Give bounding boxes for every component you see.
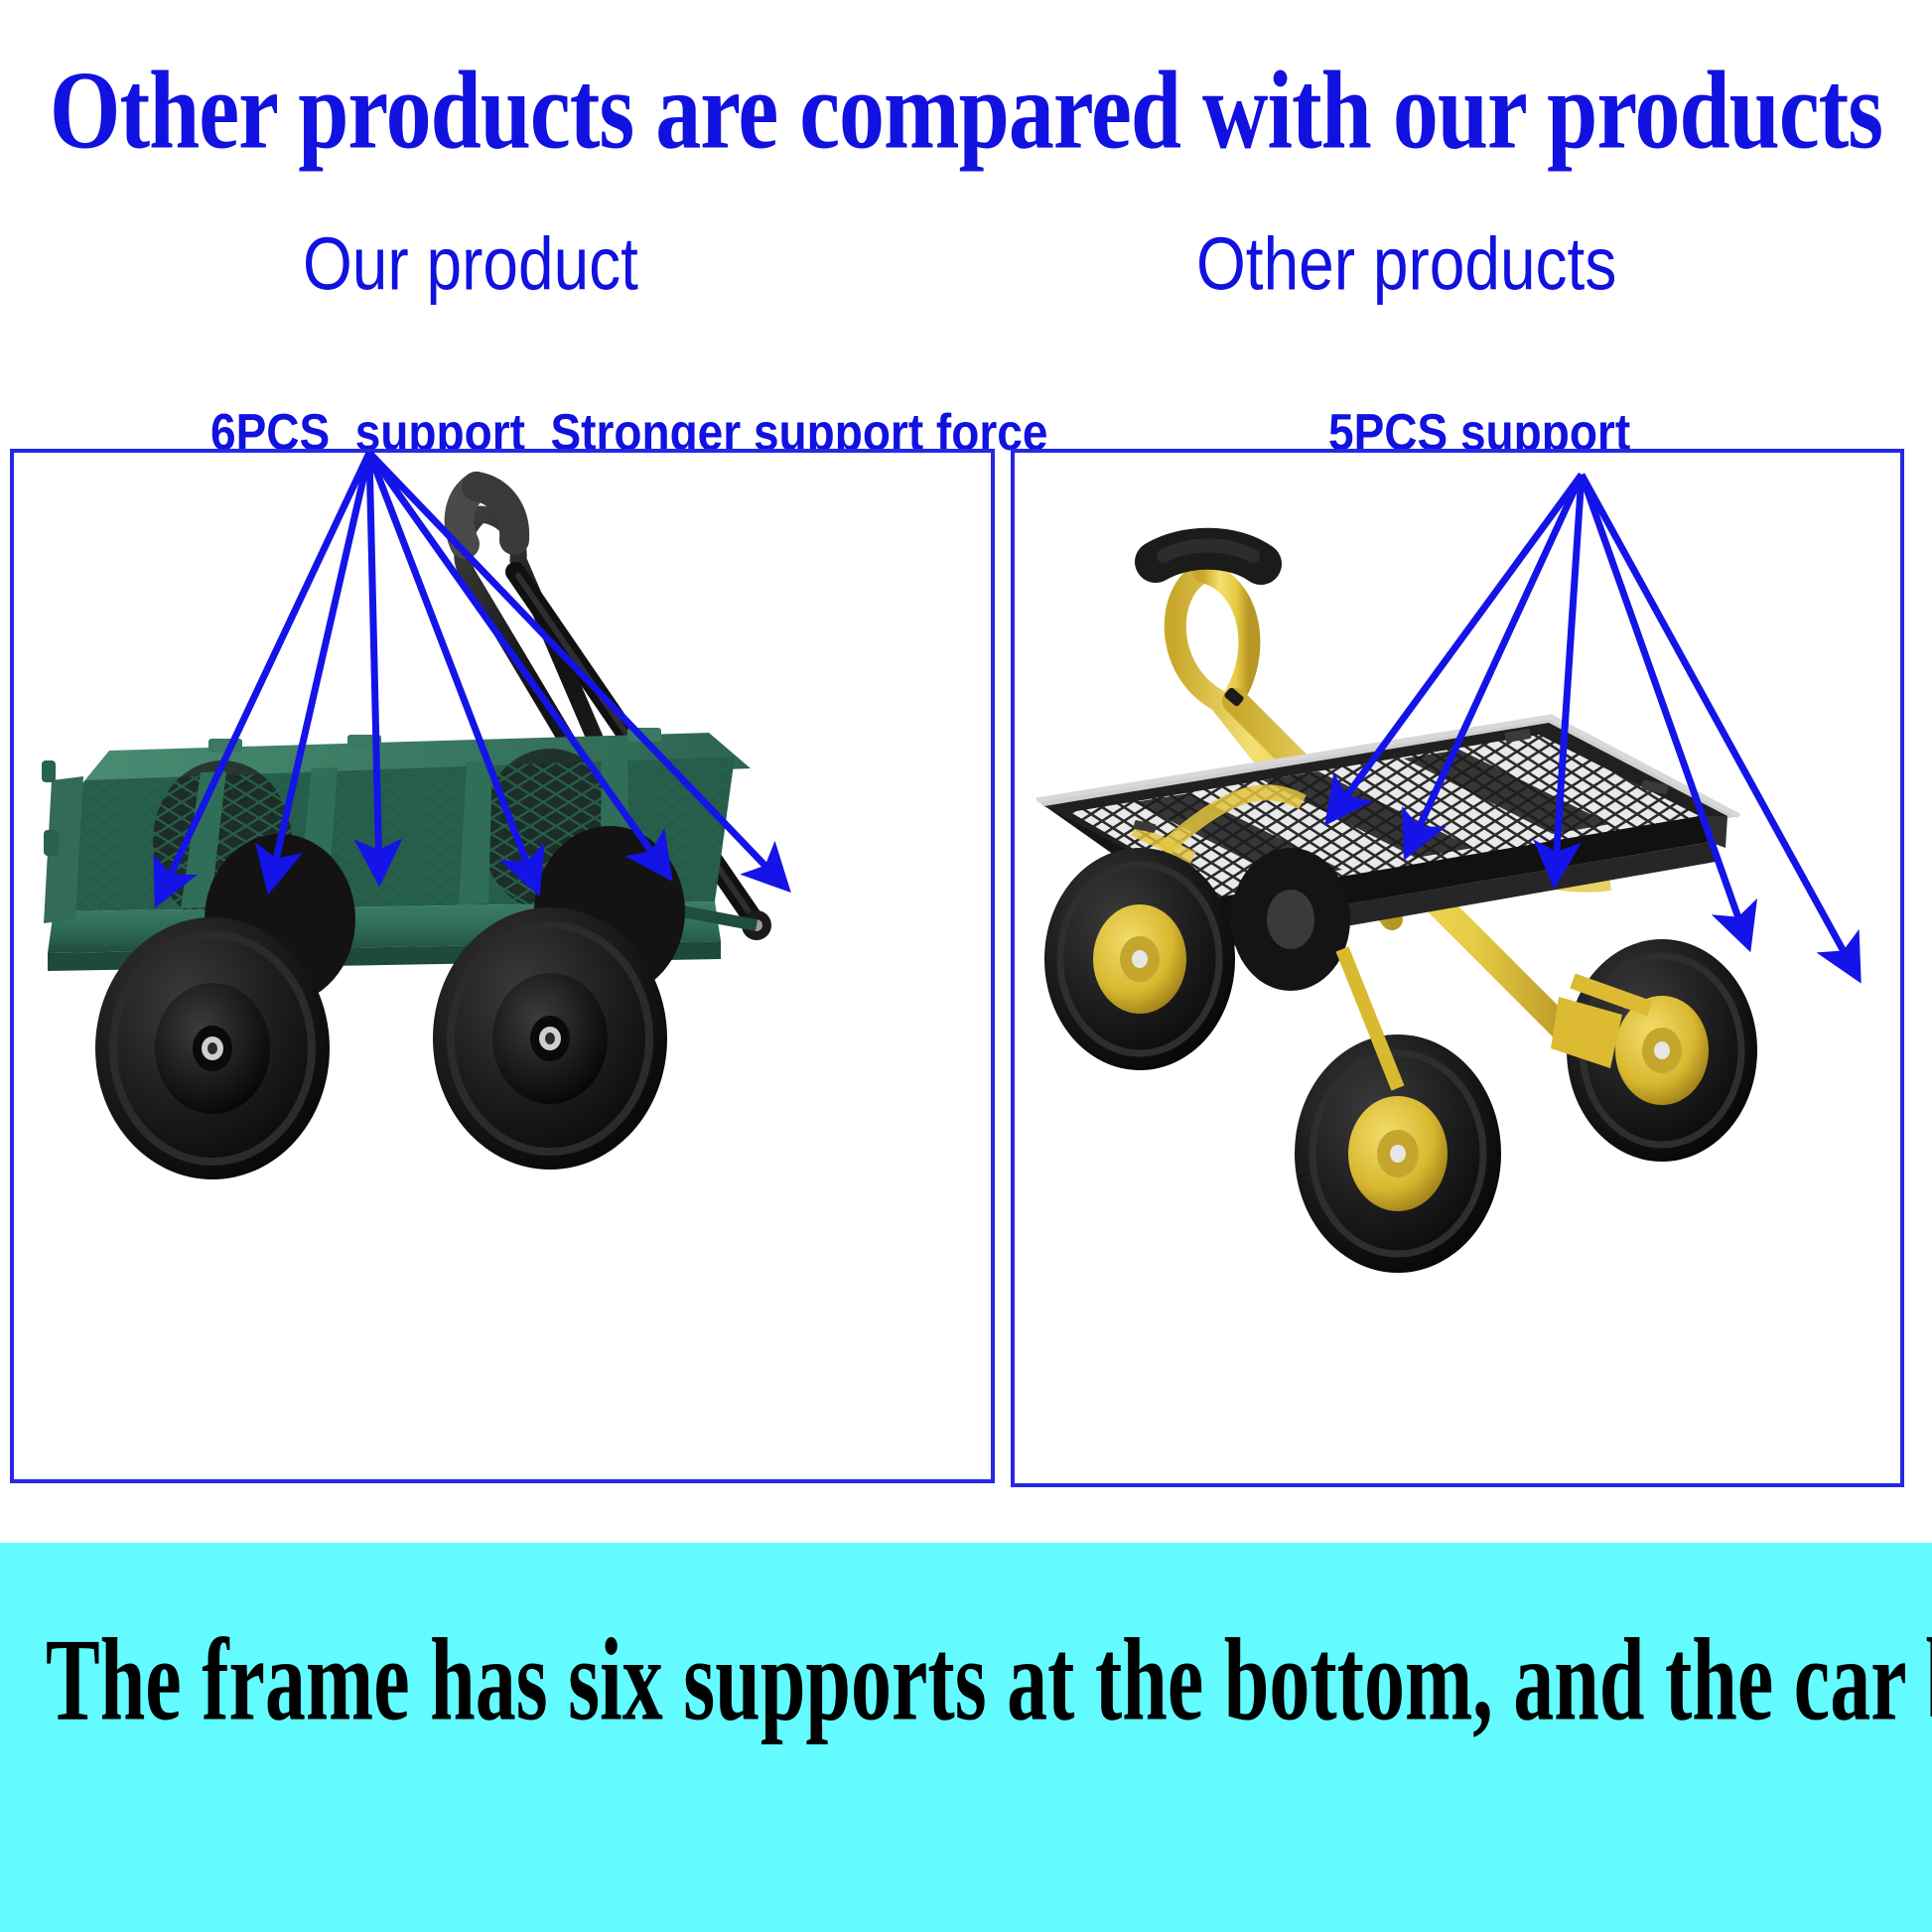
- our-product-heading: Our product: [303, 220, 638, 307]
- our-product-illustration: [14, 453, 995, 1483]
- bottom-banner: The frame has six supports at the bottom…: [0, 1543, 1932, 1932]
- bottom-banner-text: The frame has six supports at the bottom…: [46, 1612, 1932, 1747]
- page-title: Other products are compared with our pro…: [0, 46, 1932, 174]
- our-product-panel: [10, 449, 995, 1483]
- other-products-panel: [1011, 449, 1904, 1487]
- other-products-heading: Other products: [1196, 220, 1616, 307]
- other-product-illustration: [1015, 453, 1904, 1487]
